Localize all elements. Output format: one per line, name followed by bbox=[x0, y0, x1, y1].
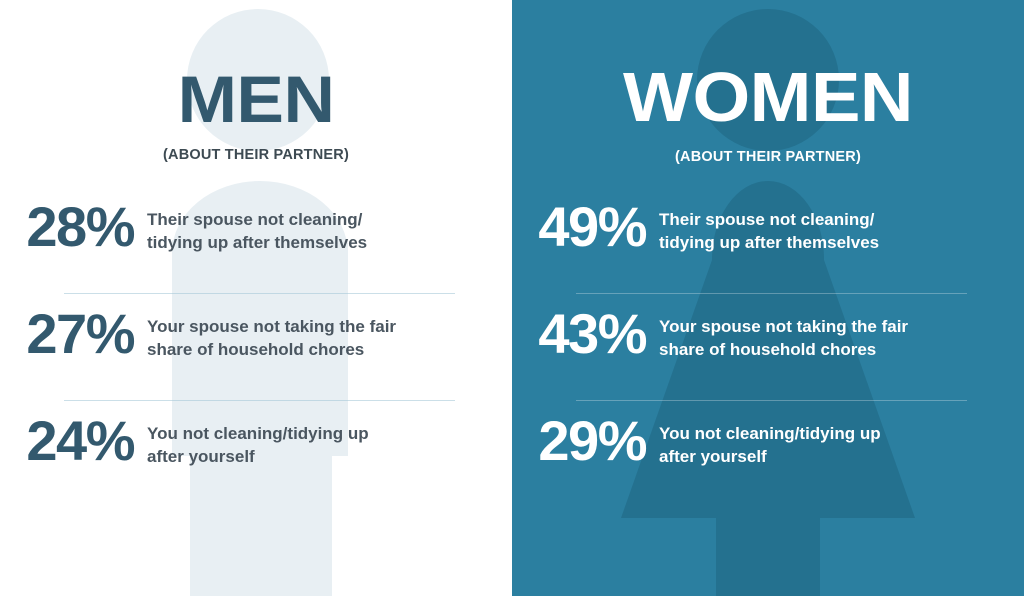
stat-label: Their spouse not cleaning/tidying up aft… bbox=[147, 199, 512, 255]
panel-men-subtitle: (ABOUT THEIR PARTNER) bbox=[0, 132, 512, 163]
stat-value: 29% bbox=[512, 413, 659, 469]
stat-row: 43% Your spouse not taking the fairshare… bbox=[512, 293, 1024, 400]
stat-row: 28% Their spouse not cleaning/tidying up… bbox=[0, 186, 512, 293]
panel-women: WOMEN (ABOUT THEIR PARTNER) 49% Their sp… bbox=[512, 0, 1024, 596]
stat-label: You not cleaning/tidying upafter yoursel… bbox=[147, 413, 512, 469]
stat-label: Your spouse not taking the fairshare of … bbox=[147, 306, 512, 362]
gender-comparison-infographic: MEN (ABOUT THEIR PARTNER) 28% Their spou… bbox=[0, 0, 1024, 596]
stat-row: 24% You not cleaning/tidying upafter you… bbox=[0, 400, 512, 507]
stat-value: 43% bbox=[512, 306, 659, 362]
stat-list-women: 49% Their spouse not cleaning/tidying up… bbox=[512, 186, 1024, 507]
stat-label: Their spouse not cleaning/tidying up aft… bbox=[659, 199, 1024, 255]
panel-men: MEN (ABOUT THEIR PARTNER) 28% Their spou… bbox=[0, 0, 512, 596]
stat-label: Your spouse not taking the fairshare of … bbox=[659, 306, 1024, 362]
stat-value: 24% bbox=[0, 413, 147, 469]
page-title-men: MEN bbox=[0, 0, 512, 132]
stat-value: 27% bbox=[0, 306, 147, 362]
stat-row: 29% You not cleaning/tidying upafter you… bbox=[512, 400, 1024, 507]
stat-row: 27% Your spouse not taking the fairshare… bbox=[0, 293, 512, 400]
panel-men-header: MEN (ABOUT THEIR PARTNER) bbox=[0, 0, 512, 163]
stat-value: 49% bbox=[512, 199, 659, 255]
stat-row: 49% Their spouse not cleaning/tidying up… bbox=[512, 186, 1024, 293]
panel-women-subtitle: (ABOUT THEIR PARTNER) bbox=[512, 132, 1024, 165]
panel-women-header: WOMEN (ABOUT THEIR PARTNER) bbox=[512, 0, 1024, 165]
stat-list-men: 28% Their spouse not cleaning/tidying up… bbox=[0, 186, 512, 507]
stat-value: 28% bbox=[0, 199, 147, 255]
stat-label: You not cleaning/tidying upafter yoursel… bbox=[659, 413, 1024, 469]
page-title-women: WOMEN bbox=[512, 0, 1024, 132]
